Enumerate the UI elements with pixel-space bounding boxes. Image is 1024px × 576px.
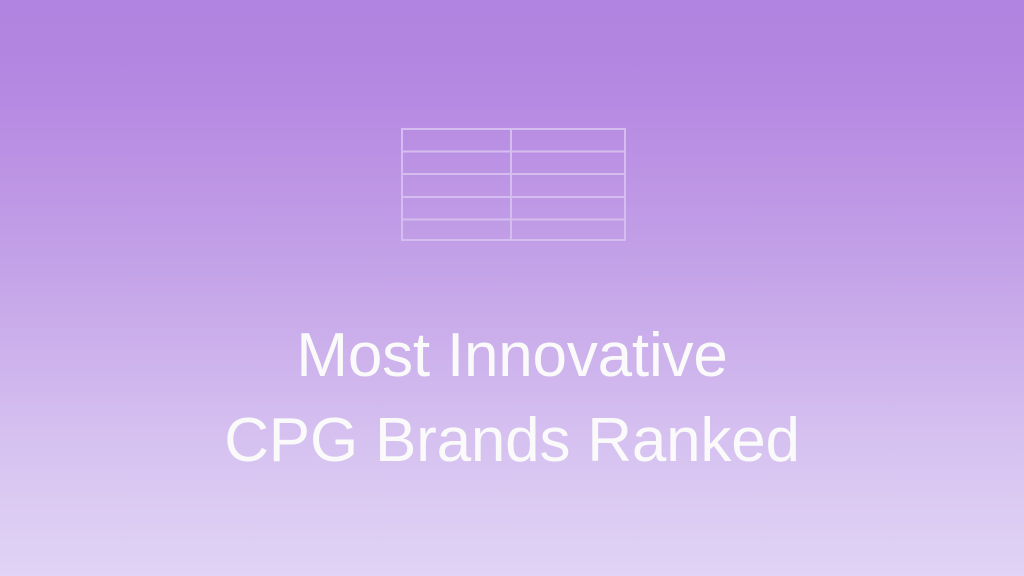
page-title-line-1: Most Innovative bbox=[0, 313, 1024, 398]
page-title: Most Innovative CPG Brands Ranked bbox=[0, 313, 1024, 483]
title-slide: Most Innovative CPG Brands Ranked bbox=[0, 0, 1024, 576]
page-title-line-2: CPG Brands Ranked bbox=[0, 398, 1024, 483]
table-grid-icon bbox=[401, 128, 626, 241]
table-outer-border bbox=[402, 129, 625, 240]
